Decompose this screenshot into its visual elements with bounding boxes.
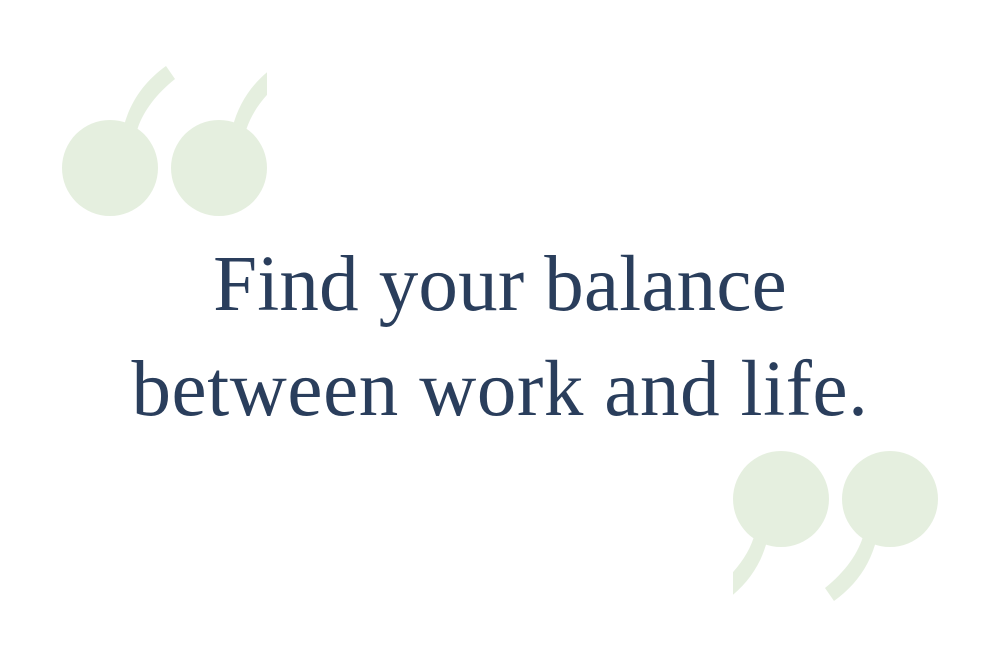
open-quote-icon — [62, 62, 267, 220]
quote-line-2: between work and life. — [56, 337, 944, 442]
quote-card: Find your balance between work and life. — [0, 0, 1000, 667]
close-quote-icon — [733, 447, 938, 605]
quote-text: Find your balance between work and life. — [0, 232, 1000, 442]
quote-line-1: Find your balance — [56, 232, 944, 337]
